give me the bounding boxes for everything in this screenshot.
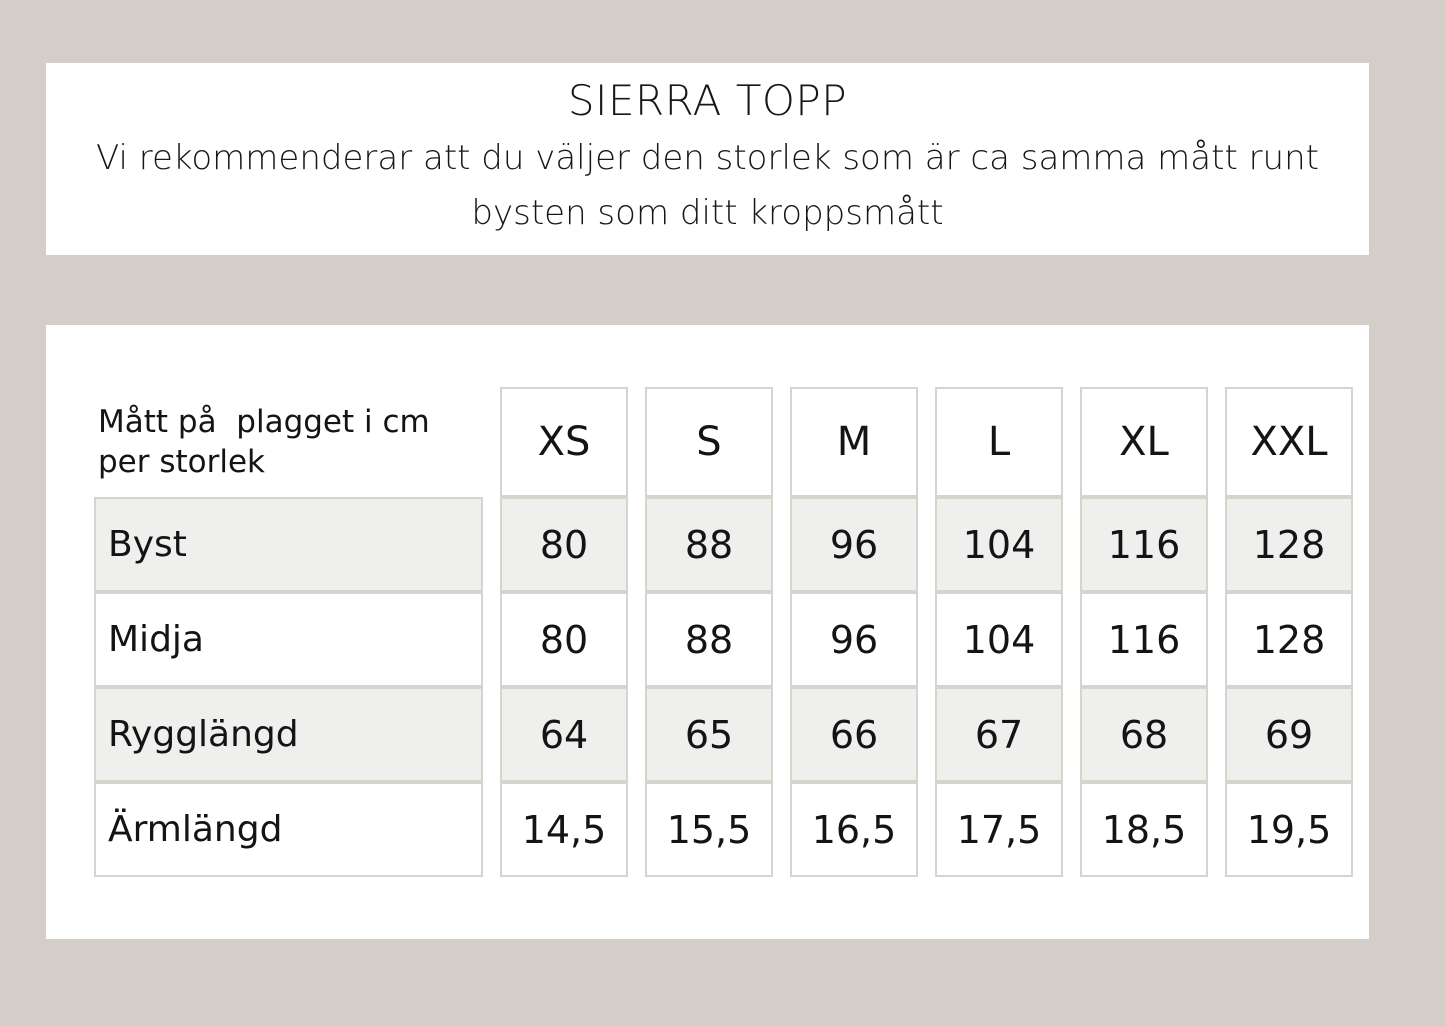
row-label-rygglangd: Rygglängd xyxy=(94,687,483,782)
size-table-body: Byst 80 88 96 104 116 128 Midja 80 88 96… xyxy=(94,497,1353,877)
cell-byst-m: 96 xyxy=(790,497,918,592)
row-label-midja: Midja xyxy=(94,592,483,687)
table-row: Byst 80 88 96 104 116 128 xyxy=(94,497,1353,592)
heading-panel: SIERRA TOPP Vi rekommenderar att du välj… xyxy=(46,63,1369,255)
cell-rygglangd-m: 66 xyxy=(790,687,918,782)
cell-rygglangd-xxl: 69 xyxy=(1225,687,1353,782)
cell-armlangd-s: 15,5 xyxy=(645,782,773,877)
row-label-armlangd: Ärmlängd xyxy=(94,782,483,877)
cell-byst-xxl: 128 xyxy=(1225,497,1353,592)
cell-midja-m: 96 xyxy=(790,592,918,687)
size-header-l: L xyxy=(935,387,1063,497)
cell-byst-l: 104 xyxy=(935,497,1063,592)
cell-midja-l: 104 xyxy=(935,592,1063,687)
size-table-head: Mått på plagget i cm per storlek XS S M … xyxy=(94,387,1353,497)
cell-midja-xxl: 128 xyxy=(1225,592,1353,687)
cell-midja-xl: 116 xyxy=(1080,592,1208,687)
page-title: SIERRA TOPP xyxy=(568,75,847,127)
table-row: Rygglängd 64 65 66 67 68 69 xyxy=(94,687,1353,782)
size-header-xxl: XXL xyxy=(1225,387,1353,497)
row-label-byst: Byst xyxy=(94,497,483,592)
cell-byst-s: 88 xyxy=(645,497,773,592)
cell-armlangd-l: 17,5 xyxy=(935,782,1063,877)
cell-byst-xl: 116 xyxy=(1080,497,1208,592)
table-header-row: Mått på plagget i cm per storlek XS S M … xyxy=(94,387,1353,497)
cell-armlangd-xl: 18,5 xyxy=(1080,782,1208,877)
measurement-unit-header: Mått på plagget i cm per storlek xyxy=(94,387,483,497)
size-guide-canvas: SIERRA TOPP Vi rekommenderar att du välj… xyxy=(0,0,1445,1026)
size-table-panel: Mått på plagget i cm per storlek XS S M … xyxy=(46,325,1369,939)
cell-midja-s: 88 xyxy=(645,592,773,687)
size-header-s: S xyxy=(645,387,773,497)
table-row: Ärmlängd 14,5 15,5 16,5 17,5 18,5 19,5 xyxy=(94,782,1353,877)
page-subtitle: Vi rekommenderar att du väljer den storl… xyxy=(68,131,1348,241)
cell-armlangd-xs: 14,5 xyxy=(500,782,628,877)
cell-rygglangd-xl: 68 xyxy=(1080,687,1208,782)
cell-armlangd-xxl: 19,5 xyxy=(1225,782,1353,877)
size-table: Mått på plagget i cm per storlek XS S M … xyxy=(77,387,1370,877)
size-header-m: M xyxy=(790,387,918,497)
table-row: Midja 80 88 96 104 116 128 xyxy=(94,592,1353,687)
cell-rygglangd-l: 67 xyxy=(935,687,1063,782)
size-header-xl: XL xyxy=(1080,387,1208,497)
cell-armlangd-m: 16,5 xyxy=(790,782,918,877)
cell-rygglangd-xs: 64 xyxy=(500,687,628,782)
cell-midja-xs: 80 xyxy=(500,592,628,687)
size-header-xs: XS xyxy=(500,387,628,497)
cell-byst-xs: 80 xyxy=(500,497,628,592)
cell-rygglangd-s: 65 xyxy=(645,687,773,782)
